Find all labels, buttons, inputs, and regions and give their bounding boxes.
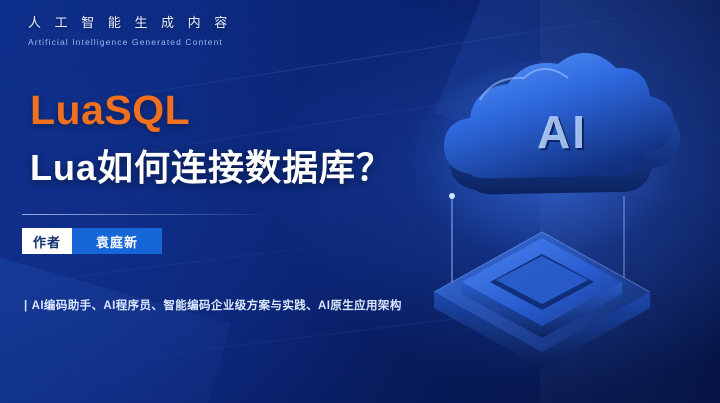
tagline-bar: |: [24, 300, 28, 312]
header-block: 人 工 智 能 生 成 内 容 Artificial Intelligence …: [28, 12, 232, 47]
page-title-english: LuaSQL: [30, 86, 190, 134]
cloud-ai-label: AI: [537, 106, 587, 158]
tagline-text: AI编码助手、AI程序员、智能编码企业级方案与实践、AI原生应用架构: [32, 300, 402, 312]
tagline: |AI编码助手、AI程序员、智能编码企业级方案与实践、AI原生应用架构: [24, 297, 402, 313]
divider-line: [22, 214, 262, 215]
author-label: 作者: [22, 228, 72, 254]
author-block: 作者 袁庭新: [22, 228, 162, 254]
ai-cloud-chip-illustration: AI AI: [392, 46, 692, 376]
poster-canvas: 人 工 智 能 生 成 内 容 Artificial Intelligence …: [0, 0, 720, 403]
decorative-polygon-bottom-left: [0, 252, 231, 403]
header-english-title: Artificial Intelligence Generated Conten…: [28, 37, 232, 47]
author-name: 袁庭新: [72, 228, 162, 254]
page-title-chinese: Lua如何连接数据库？: [30, 145, 393, 191]
header-chinese-title: 人 工 智 能 生 成 内 容: [28, 12, 232, 31]
